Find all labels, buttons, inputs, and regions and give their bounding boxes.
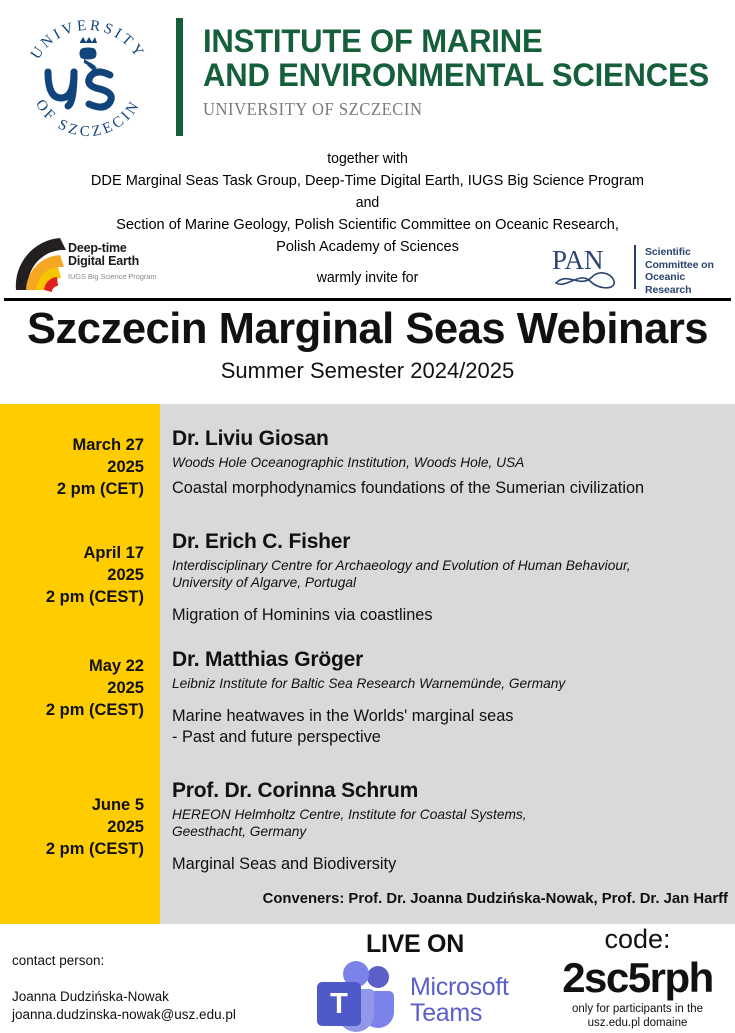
- pan-text-line-1: Scientific: [645, 246, 730, 259]
- code-note-line-1: only for participants in the: [540, 1002, 735, 1016]
- contact-email[interactable]: joanna.dudzinska-nowak@usz.edu.pl: [12, 1006, 236, 1024]
- date-day-month: May 22: [0, 655, 144, 677]
- contact-block: contact person: Joanna Dudzińska-Nowak j…: [12, 952, 236, 1024]
- institute-name-block: INSTITUTE OF MARINE AND ENVIRONMENTAL SC…: [203, 24, 733, 120]
- talk-title-cont: - Past and future perspective: [172, 727, 721, 748]
- schedule-date: April 17 2025 2 pm (CEST): [0, 542, 144, 608]
- university-name: UNIVERSITY OF SZCZECIN: [203, 99, 691, 120]
- speaker-affiliation-cont: University of Algarve, Portugal: [172, 574, 716, 591]
- teams-brand-line-1: Microsoft: [410, 974, 509, 1000]
- pan-text-line-3: Oceanic Research: [645, 271, 730, 296]
- talk-title: Marine heatwaves in the Worlds' marginal…: [172, 706, 721, 727]
- schedule-entry-body: Dr. Matthias Gröger Leibniz Institute fo…: [172, 647, 727, 748]
- code-label: code:: [540, 924, 735, 955]
- microsoft-teams-logo: T Microsoft Teams: [312, 960, 517, 1032]
- and-label: and: [11, 192, 724, 214]
- talk-title: Marginal Seas and Biodiversity: [172, 854, 721, 875]
- date-day-month: March 27: [0, 434, 144, 456]
- pan-scor-logo: PAN Scientific Committee on Oceanic Rese…: [550, 243, 730, 293]
- schedule-date: June 5 2025 2 pm (CEST): [0, 794, 144, 860]
- poster-header: UNIVERSITY OF SZCZECIN INSTITUTE OF MAR: [0, 0, 735, 146]
- dde-line-2: Digital Earth: [68, 255, 156, 268]
- teams-brand-line-2: Teams: [410, 1000, 509, 1026]
- schedule-date: May 22 2025 2 pm (CEST): [0, 655, 144, 721]
- webinar-schedule-panel: March 27 2025 2 pm (CET) Dr. Liviu Giosa…: [0, 404, 735, 924]
- talk-title: Coastal morphodynamics foundations of th…: [172, 478, 721, 499]
- page-title: Szczecin Marginal Seas Webinars: [4, 303, 732, 355]
- speaker-name: Dr. Liviu Giosan: [172, 426, 727, 451]
- speaker-affiliation-cont: Geesthacht, Germany: [172, 823, 716, 840]
- speaker-name: Dr. Matthias Gröger: [172, 647, 727, 672]
- poster-footer: contact person: Joanna Dudzińska-Nowak j…: [0, 924, 735, 1033]
- university-seal-logo: UNIVERSITY OF SZCZECIN: [14, 12, 162, 138]
- title-divider-rule: [4, 298, 731, 301]
- svg-text:PAN: PAN: [552, 245, 604, 275]
- institute-line-1: INSTITUTE OF MARINE: [203, 24, 717, 58]
- date-day-month: June 5: [0, 794, 144, 816]
- together-with-label: together with: [11, 148, 724, 170]
- contact-name: Joanna Dudzińska-Nowak: [12, 988, 236, 1006]
- date-year: 2025: [0, 677, 144, 699]
- live-on-label: LIVE ON: [310, 930, 520, 959]
- code-value: 2sc5rph: [540, 955, 735, 1001]
- date-time: 2 pm (CEST): [0, 699, 144, 721]
- meeting-code-block: code: 2sc5rph only for participants in t…: [540, 924, 735, 1030]
- schedule-date: March 27 2025 2 pm (CET): [0, 434, 144, 500]
- date-day-month: April 17: [0, 542, 144, 564]
- deep-time-digital-earth-logo: Deep-time Digital Earth IUGS Big Science…: [14, 236, 164, 292]
- talk-title: Migration of Hominins via coastlines: [172, 605, 721, 626]
- date-year: 2025: [0, 816, 144, 838]
- date-time: 2 pm (CET): [0, 478, 144, 500]
- schedule-entry-body: Prof. Dr. Corinna Schrum HEREON Helmholt…: [172, 778, 727, 875]
- pan-text-line-2: Committee on: [645, 259, 730, 272]
- speaker-affiliation: Leibniz Institute for Baltic Sea Researc…: [172, 675, 716, 692]
- speaker-affiliation: HEREON Helmholtz Centre, Institute for C…: [172, 806, 716, 823]
- date-time: 2 pm (CEST): [0, 838, 144, 860]
- organizer-line-1: DDE Marginal Seas Task Group, Deep-Time …: [11, 170, 724, 192]
- speaker-name: Prof. Dr. Corinna Schrum: [172, 778, 727, 803]
- schedule-entry-body: Dr. Erich C. Fisher Interdisciplinary Ce…: [172, 529, 727, 626]
- speaker-name: Dr. Erich C. Fisher: [172, 529, 727, 554]
- speaker-affiliation: Interdisciplinary Centre for Archaeology…: [172, 557, 716, 574]
- organizer-line-2: Section of Marine Geology, Polish Scient…: [11, 214, 724, 236]
- dde-line-3: IUGS Big Science Program: [68, 270, 156, 283]
- date-year: 2025: [0, 564, 144, 586]
- conveners-line: Conveners: Prof. Dr. Joanna Dudzińska-No…: [178, 890, 728, 907]
- institute-line-2: AND ENVIRONMENTAL SCIENCES: [203, 58, 717, 92]
- date-year: 2025: [0, 456, 144, 478]
- speaker-affiliation: Woods Hole Oceanographic Institution, Wo…: [172, 454, 716, 471]
- code-note-line-2: usz.edu.pl domaine: [540, 1016, 735, 1030]
- svg-text:T: T: [330, 988, 348, 1020]
- date-time: 2 pm (CEST): [0, 586, 144, 608]
- header-green-divider: [176, 18, 183, 136]
- contact-label: contact person:: [12, 952, 236, 970]
- pan-logo-divider: [634, 245, 636, 289]
- schedule-entry-body: Dr. Liviu Giosan Woods Hole Oceanographi…: [172, 426, 727, 499]
- page-subtitle: Summer Semester 2024/2025: [0, 358, 735, 384]
